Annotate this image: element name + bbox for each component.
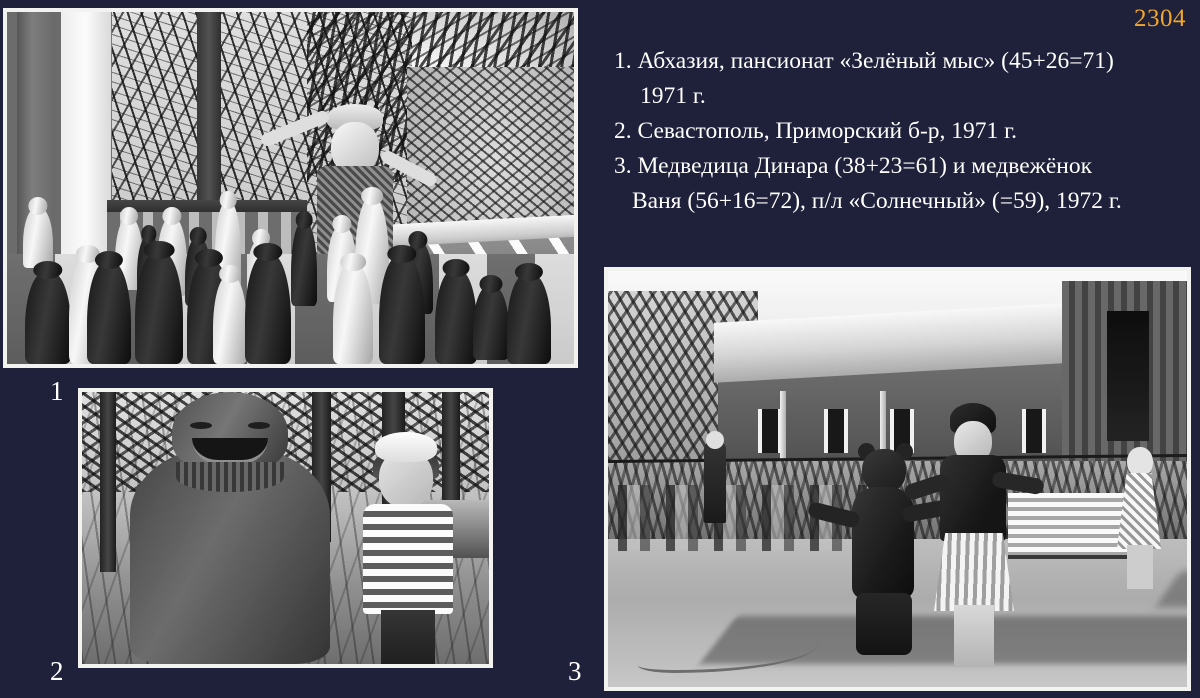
- photo-1-chess[interactable]: [3, 8, 578, 368]
- statue-smile: [192, 438, 268, 464]
- chess-piece: [473, 286, 509, 360]
- girl-legs: [1127, 545, 1153, 589]
- chess-piece: [135, 252, 183, 364]
- photo-1-canvas: [7, 12, 574, 364]
- photo-2-number: 2: [50, 658, 64, 685]
- girl-head: [1127, 447, 1153, 477]
- building-doorway: [1107, 311, 1149, 441]
- boy-trousers: [381, 610, 435, 664]
- caption-line-3: 2. Севастополь, Приморский б-р, 1971 г.: [610, 114, 1195, 149]
- chess-piece: [333, 264, 373, 364]
- photo-1-number: 1: [50, 378, 64, 405]
- photo-3-canvas: [608, 271, 1187, 687]
- caption-line-2: 1971 г.: [610, 79, 1195, 114]
- animal-trainer: [928, 403, 1018, 675]
- chess-piece: [23, 208, 53, 268]
- page-number: 2304: [1134, 6, 1186, 31]
- standing-person-head: [706, 431, 724, 449]
- walking-girl: [1115, 447, 1163, 587]
- chess-piece: [25, 272, 71, 364]
- trainer-skirt: [934, 533, 1014, 611]
- standing-person: [704, 441, 726, 523]
- chess-piece: [213, 276, 247, 364]
- slide: 2304: [0, 0, 1200, 698]
- boy-striped-shirt: [363, 504, 453, 614]
- boy-figure: [361, 432, 453, 664]
- photo-2-statue[interactable]: [78, 388, 493, 668]
- chess-piece: [87, 262, 131, 364]
- chess-piece: [507, 274, 551, 364]
- statue-eye-left: [190, 422, 212, 429]
- trainer-legs: [954, 605, 994, 667]
- caption-line-5: Ваня (56+16=72), п/л «Солнечный» (=59), …: [610, 184, 1195, 219]
- photo-3-number: 3: [568, 658, 582, 685]
- caption-block: 1. Абхазия, пансионат «Зелёный мыс» (45+…: [610, 44, 1195, 219]
- statue-head: [172, 392, 288, 472]
- tree-trunk: [100, 392, 116, 572]
- trainer-jacket: [940, 455, 1006, 541]
- statue-collar: [176, 462, 284, 492]
- caption-line-1: 1. Абхазия, пансионат «Зелёный мыс» (45+…: [610, 44, 1195, 79]
- chess-piece: [291, 222, 317, 306]
- bear-body: [852, 487, 914, 599]
- caption-line-4: 3. Медведица Динара (38+23=61) и медвежё…: [610, 149, 1195, 184]
- bear-legs: [856, 593, 912, 655]
- stone-statue: [130, 446, 330, 664]
- statue-eye-right: [248, 422, 270, 429]
- chess-piece: [245, 254, 291, 364]
- boy-cap: [375, 432, 437, 462]
- chess-piece: [379, 256, 425, 364]
- photo-2-canvas: [82, 392, 489, 664]
- chess-piece: [435, 270, 477, 364]
- photo-3-bears[interactable]: [604, 267, 1191, 691]
- girl-dress: [1117, 473, 1161, 549]
